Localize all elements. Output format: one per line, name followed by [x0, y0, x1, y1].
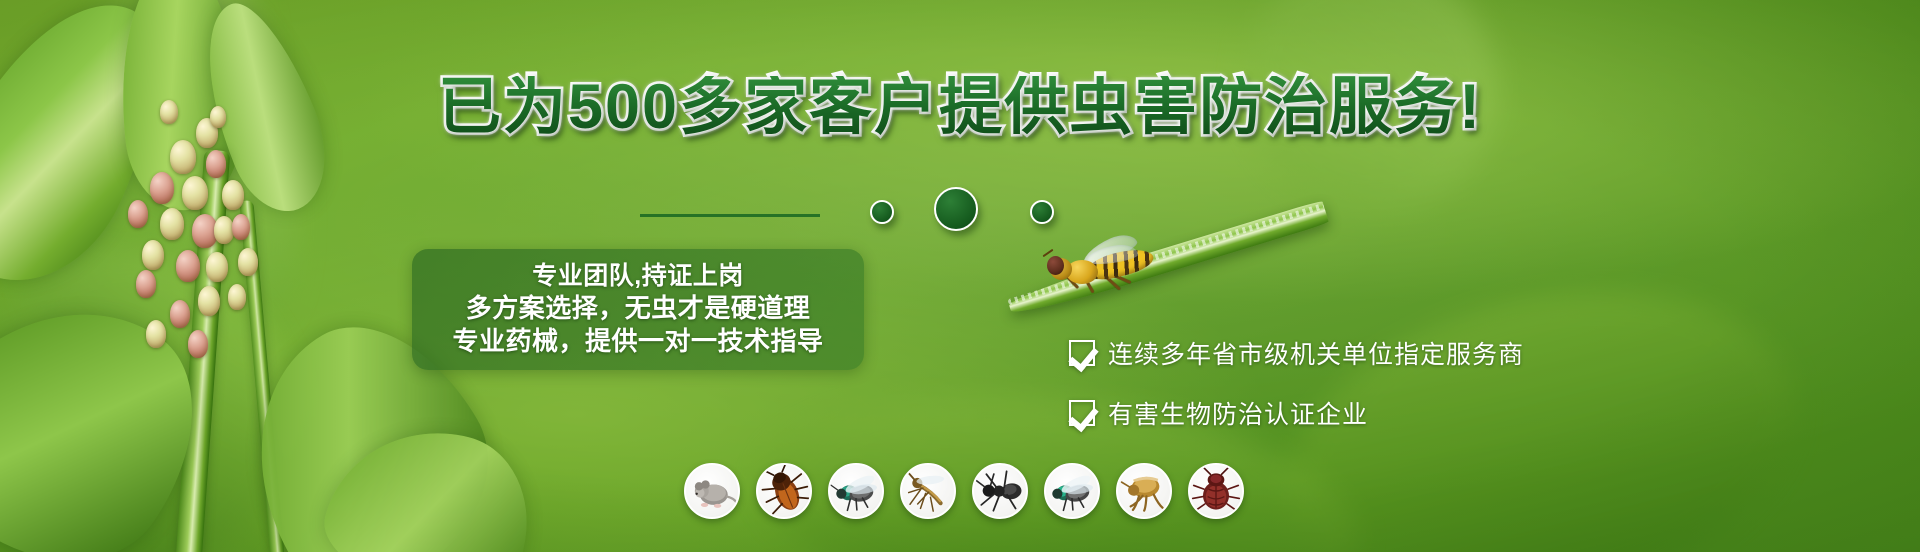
pest-icon-cockroach[interactable]: 蟑螂	[756, 463, 812, 519]
credentials-checklist: 连续多年省市级机关单位指定服务商 有害生物防治认证企业	[1069, 335, 1524, 431]
pest-icon-blowfly[interactable]: 绿头苍蝇	[1044, 463, 1100, 519]
checklist-item-label: 有害生物防治认证企业	[1108, 395, 1368, 431]
fly-eye	[1047, 256, 1064, 275]
hoverfly-image	[1036, 242, 1160, 306]
pest-icon-rat[interactable]: 鼠	[684, 463, 740, 519]
decorative-dot-small-right	[1030, 200, 1054, 224]
pest-icon-row: 鼠 蟑螂 苍蝇 蚊	[684, 463, 1244, 519]
checklist-item: 有害生物防治认证企业	[1069, 395, 1524, 431]
decorative-dot-small-left	[870, 200, 894, 224]
checkbox-checked-icon	[1069, 400, 1095, 426]
checklist-item-label: 连续多年省市级机关单位指定服务商	[1108, 335, 1524, 371]
pest-icon-flea[interactable]: 跳蚤	[1116, 463, 1172, 519]
checklist-item: 连续多年省市级机关单位指定服务商	[1069, 335, 1524, 371]
decorative-divider-line	[640, 214, 820, 217]
selling-point-line-1: 专业团队,持证上岗	[532, 262, 743, 291]
decorative-dot-large-center	[934, 187, 978, 231]
pest-icon-fly[interactable]: 苍蝇	[828, 463, 884, 519]
selling-points-panel: 专业团队,持证上岗 多方案选择，无虫才是硬道理 专业药械，提供一对一技术指导	[412, 249, 864, 370]
pest-icon-mosquito[interactable]: 蚊	[900, 463, 956, 519]
selling-point-line-3: 专业药械，提供一对一技术指导	[452, 327, 823, 357]
selling-point-line-2: 多方案选择，无虫才是硬道理	[466, 294, 811, 324]
banner-headline: 已为500多家客户提供虫害防治服务!	[0, 76, 1920, 139]
promo-banner: 已为500多家客户提供虫害防治服务! 已为500多家客户提供虫害防治服务! 专业…	[0, 0, 1920, 552]
pest-icon-ant[interactable]: 蚂蚁	[972, 463, 1028, 519]
pest-icon-bedbug[interactable]: 臭虫	[1188, 463, 1244, 519]
checkbox-checked-icon	[1069, 340, 1095, 366]
